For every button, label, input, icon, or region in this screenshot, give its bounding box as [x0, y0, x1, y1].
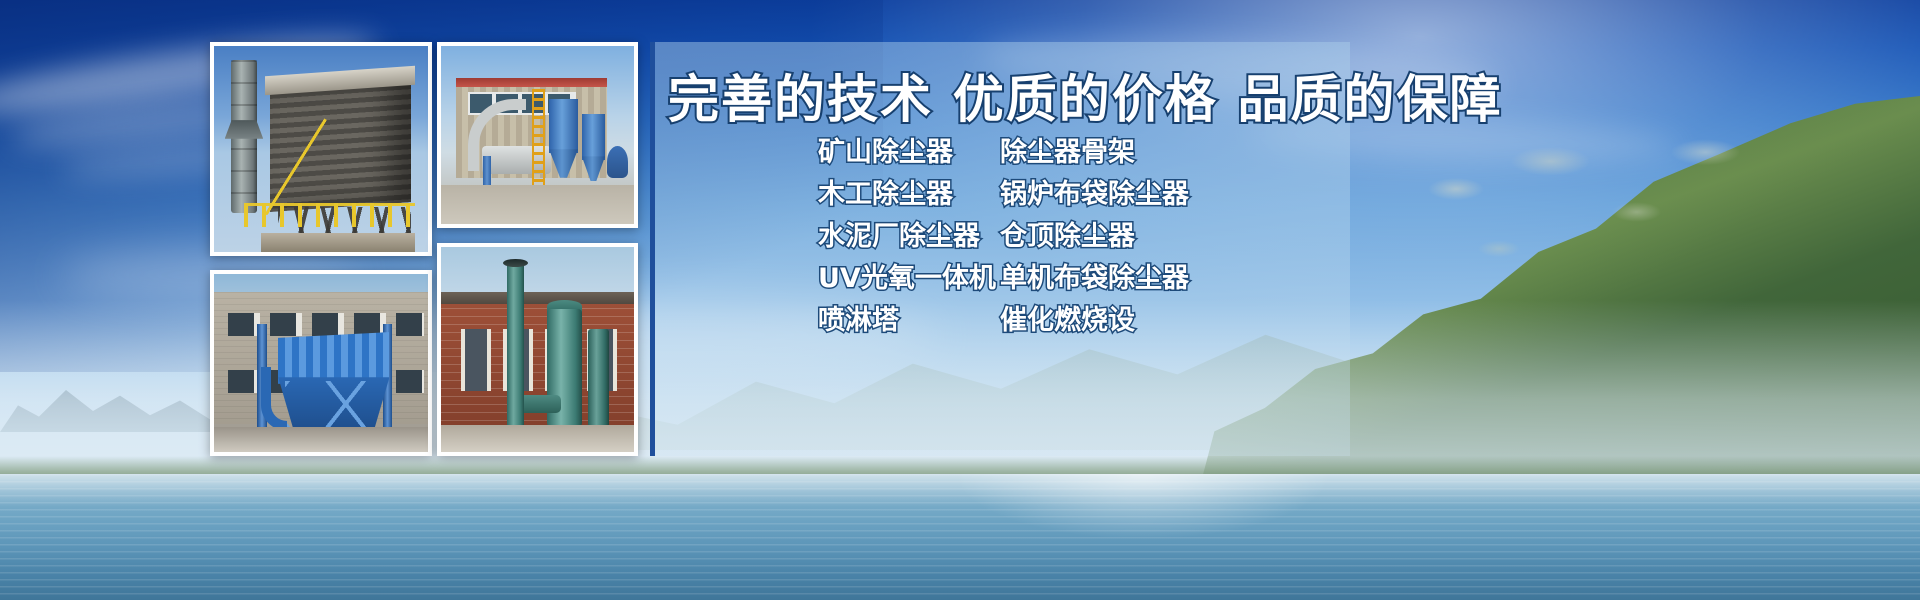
blue-hopper-large	[549, 99, 578, 152]
building-roof	[441, 292, 634, 304]
cross-bracing	[285, 381, 383, 427]
concrete-yard	[441, 425, 634, 452]
page-title: 完善的技术 优质的价格 品质的保障	[668, 58, 1358, 132]
photo-blue-pulse-jet-collector[interactable]	[210, 270, 432, 456]
photo-content	[214, 274, 428, 452]
list-item: 水泥厂除尘器 仓顶除尘器	[650, 212, 1350, 254]
photo-workshop-duct-hoppers[interactable]	[437, 42, 638, 228]
product-name[interactable]: UV光氧一体机	[818, 256, 1000, 295]
list-item: 木工除尘器 锅炉布袋除尘器	[650, 170, 1350, 212]
yellow-handrail	[244, 203, 415, 228]
orange-access-ladder	[532, 89, 546, 189]
tall-exhaust-stack	[507, 263, 524, 431]
list-item: UV光氧一体机 单机布袋除尘器	[650, 254, 1350, 296]
window-row-upper	[218, 313, 423, 336]
scrubber-tower-secondary	[588, 329, 609, 427]
product-list: 矿山除尘器 除尘器骨架 木工除尘器 锅炉布袋除尘器 水泥厂除尘器 仓顶除尘器 U…	[650, 128, 1350, 338]
product-name[interactable]: 锅炉布袋除尘器	[1000, 172, 1189, 211]
product-name[interactable]: 水泥厂除尘器	[818, 214, 1000, 253]
tower-ducting	[518, 395, 560, 413]
photo-baghouse-dust-collector[interactable]	[210, 42, 432, 256]
product-name[interactable]: 木工除尘器	[818, 172, 1000, 211]
baghouse-body	[270, 74, 411, 212]
concrete-base	[261, 233, 415, 252]
concrete-yard	[214, 427, 428, 452]
product-name[interactable]: 矿山除尘器	[818, 130, 1000, 169]
photo-scrubber-towers-brick-building[interactable]	[437, 243, 638, 456]
product-name[interactable]: 单机布袋除尘器	[1000, 256, 1189, 295]
blue-hopper-small	[582, 114, 605, 160]
blue-fan-unit	[607, 146, 628, 178]
list-item: 矿山除尘器 除尘器骨架	[650, 128, 1350, 170]
red-roof-edge	[456, 78, 607, 87]
promo-banner: 完善的技术 优质的价格 品质的保障 矿山除尘器 除尘器骨架 木工除尘器 锅炉布袋…	[0, 0, 1920, 600]
product-name[interactable]: 除尘器骨架	[1000, 130, 1135, 169]
product-name[interactable]: 喷淋塔	[818, 298, 1000, 337]
product-name[interactable]: 仓顶除尘器	[1000, 214, 1135, 253]
product-name[interactable]: 催化燃烧设	[1000, 298, 1135, 337]
photo-content	[441, 46, 634, 224]
list-item: 喷淋塔 催化燃烧设	[650, 296, 1350, 338]
water-sun-glare	[883, 474, 1403, 600]
photo-content	[441, 247, 634, 452]
concrete-yard	[441, 185, 634, 224]
photo-content	[214, 46, 428, 252]
blue-collector-housing	[278, 332, 389, 384]
